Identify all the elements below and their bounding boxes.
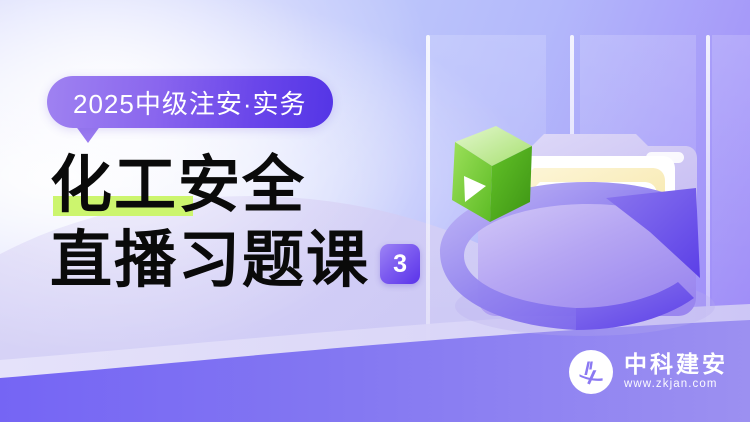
headline-line-2: 直播习题课 bbox=[50, 230, 370, 293]
brand-url: www.zkjan.com bbox=[624, 379, 728, 391]
brand-text: 中科建安 www.zkjan.com bbox=[624, 353, 728, 391]
episode-number-badge: 3 bbox=[380, 244, 420, 284]
course-banner: 2025中级注安·实务 化工安全 直播习题课 3 中科建安 www.zkjan.… bbox=[0, 0, 750, 422]
zkjan-monogram-icon bbox=[569, 350, 613, 394]
headline-line-1: 化工安全 bbox=[50, 155, 306, 218]
brand-logo[interactable]: 中科建安 www.zkjan.com bbox=[569, 350, 728, 394]
course-badge: 2025中级注安·实务 bbox=[47, 76, 333, 128]
folder-arrow-illustration bbox=[400, 20, 750, 360]
badge-label: 2025中级注安·实务 bbox=[47, 76, 333, 128]
headline-row-2: 直播习题课 3 bbox=[50, 230, 420, 293]
brand-name: 中科建安 bbox=[624, 353, 728, 376]
headline-block: 化工安全 直播习题课 3 bbox=[50, 155, 420, 293]
headline-row-1: 化工安全 bbox=[50, 155, 420, 218]
